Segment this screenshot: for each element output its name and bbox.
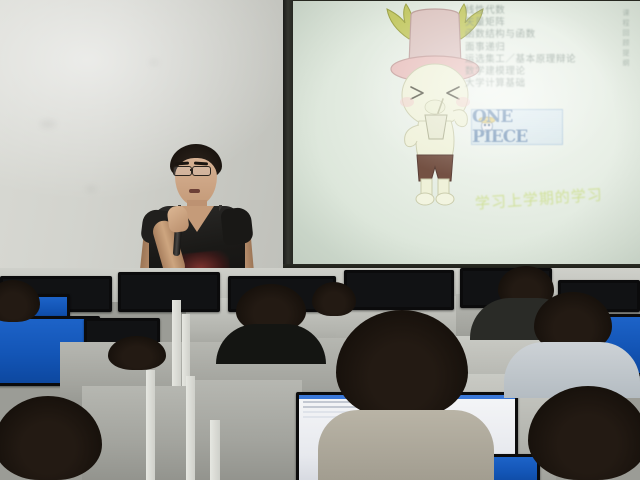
student-head [312,282,356,316]
monitor [118,272,220,312]
partition-edge [210,420,220,480]
glasses-lens-right [192,166,211,176]
slide-line: 线性代数 [465,5,635,17]
one-piece-logo-text: ONE PIECE [472,107,562,147]
desk-partition [192,380,302,480]
projection-screen: 线性代数 矢量矩阵 函数结构与函数 面事递归 运选集工／基本原理辩论 数学建模理… [293,1,640,266]
glasses-bridge [190,169,193,171]
classroom-photo: 线性代数 矢量矩阵 函数结构与函数 面事递归 运选集工／基本原理辩论 数学建模理… [0,0,640,480]
one-piece-logo: ONE PIECE [471,109,563,145]
slide-vertical-text: 课程回顾提纲 [621,9,630,69]
partition-edge [186,376,195,480]
monitor [344,270,454,310]
presenter-mouth [189,189,200,193]
student-shoulders [318,410,494,480]
glasses-lens-left [173,166,192,176]
slide-line: 运选集工／基本原理辩论 [465,54,635,66]
slide-line: 面事递归 [465,42,635,54]
slide-line: 函数结构与函数 [465,29,635,41]
student-head [108,336,166,370]
presenter-sleeve-right [220,207,254,246]
slide-line: 数学建模理论 [465,66,635,78]
slide-line: 大学计算基础 [465,78,635,90]
partition-edge [146,370,155,480]
slide-handwritten-note: 学习上学期的学习 [474,182,627,219]
slide-bullet-list: 线性代数 矢量矩阵 函数结构与函数 面事递归 运选集工／基本原理辩论 数学建模理… [465,5,635,90]
slide-line: 矢量矩阵 [465,17,635,29]
computer-lab-seating [0,268,640,480]
